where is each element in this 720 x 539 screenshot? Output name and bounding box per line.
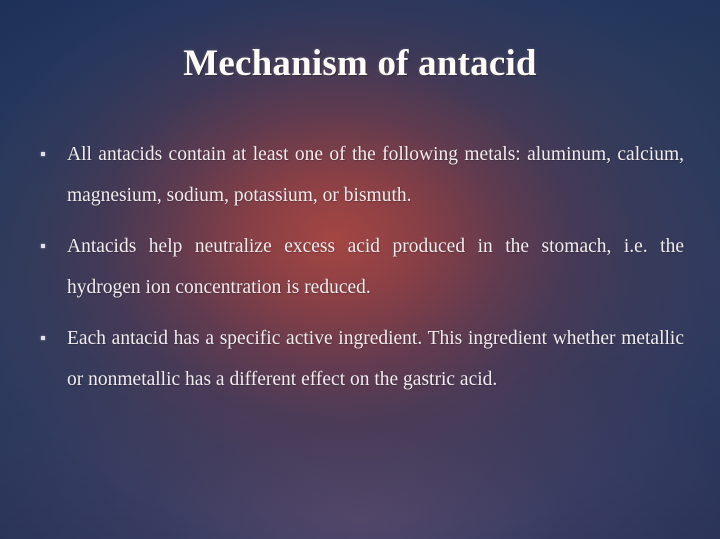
square-bullet-icon [41,244,45,248]
bullet-list: All antacids contain at least one of the… [36,134,684,400]
bullet-item-active-ingredient: Each antacid has a specific active ingre… [36,318,684,400]
bullet-item-label: All antacids contain at least one of the… [67,134,684,216]
bullet-item-label: Antacids help neutralize excess acid pro… [67,226,684,308]
bullet-item-label: Each antacid has a specific active ingre… [67,318,684,400]
presentation-slide: Mechanism of antacid All antacids contai… [0,0,720,539]
square-bullet-icon [41,336,45,340]
bullet-item-metals: All antacids contain at least one of the… [36,134,684,216]
slide-content: Mechanism of antacid All antacids contai… [0,0,720,539]
square-bullet-icon [41,152,45,156]
slide-title: Mechanism of antacid [0,42,720,85]
bullet-item-neutralize: Antacids help neutralize excess acid pro… [36,226,684,308]
